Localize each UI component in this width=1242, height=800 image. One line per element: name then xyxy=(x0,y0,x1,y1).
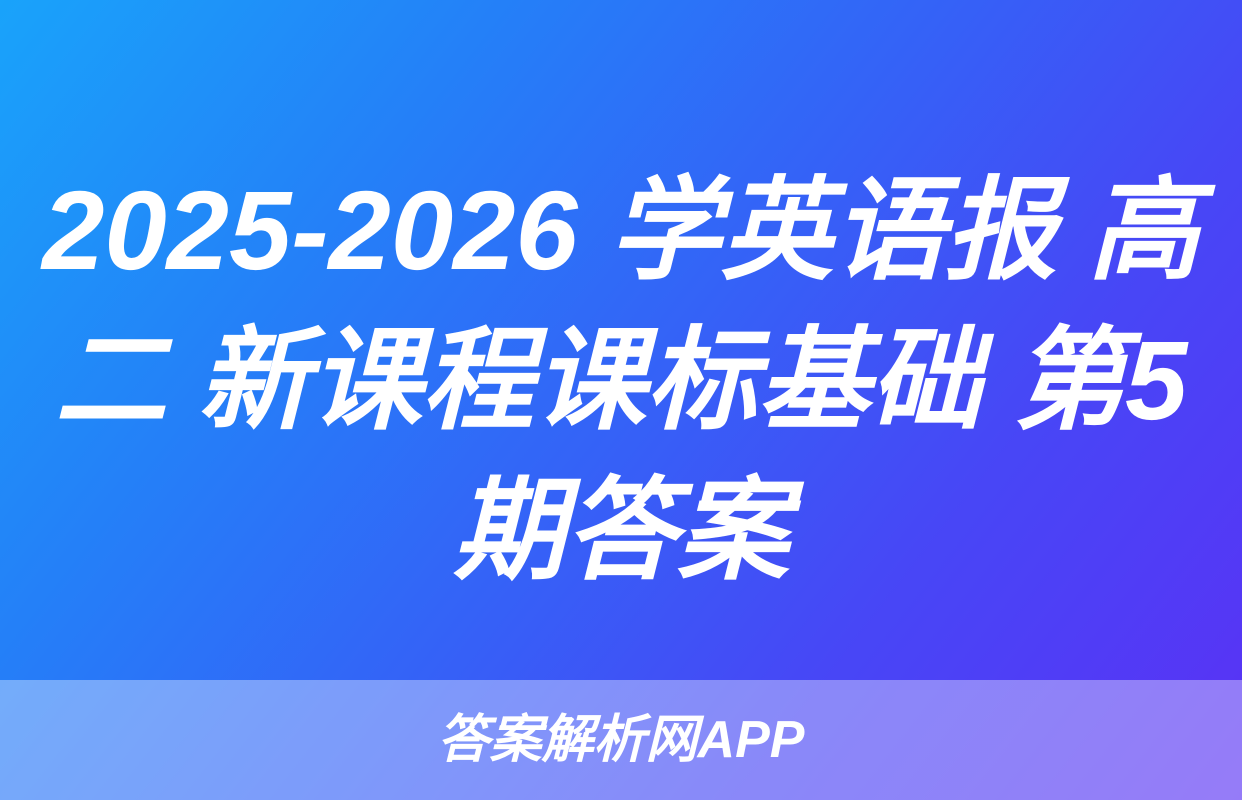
watermark-brand-label: 答案解析网APP xyxy=(438,712,805,768)
page-title: 2025-2026 学英语报 高二 新课程课标基础 第5期答案 xyxy=(0,156,1242,606)
poster-canvas: 2025-2026 学英语报 高二 新课程课标基础 第5期答案 答案解析网APP xyxy=(0,0,1242,800)
watermark-band: 答案解析网APP xyxy=(0,680,1242,800)
